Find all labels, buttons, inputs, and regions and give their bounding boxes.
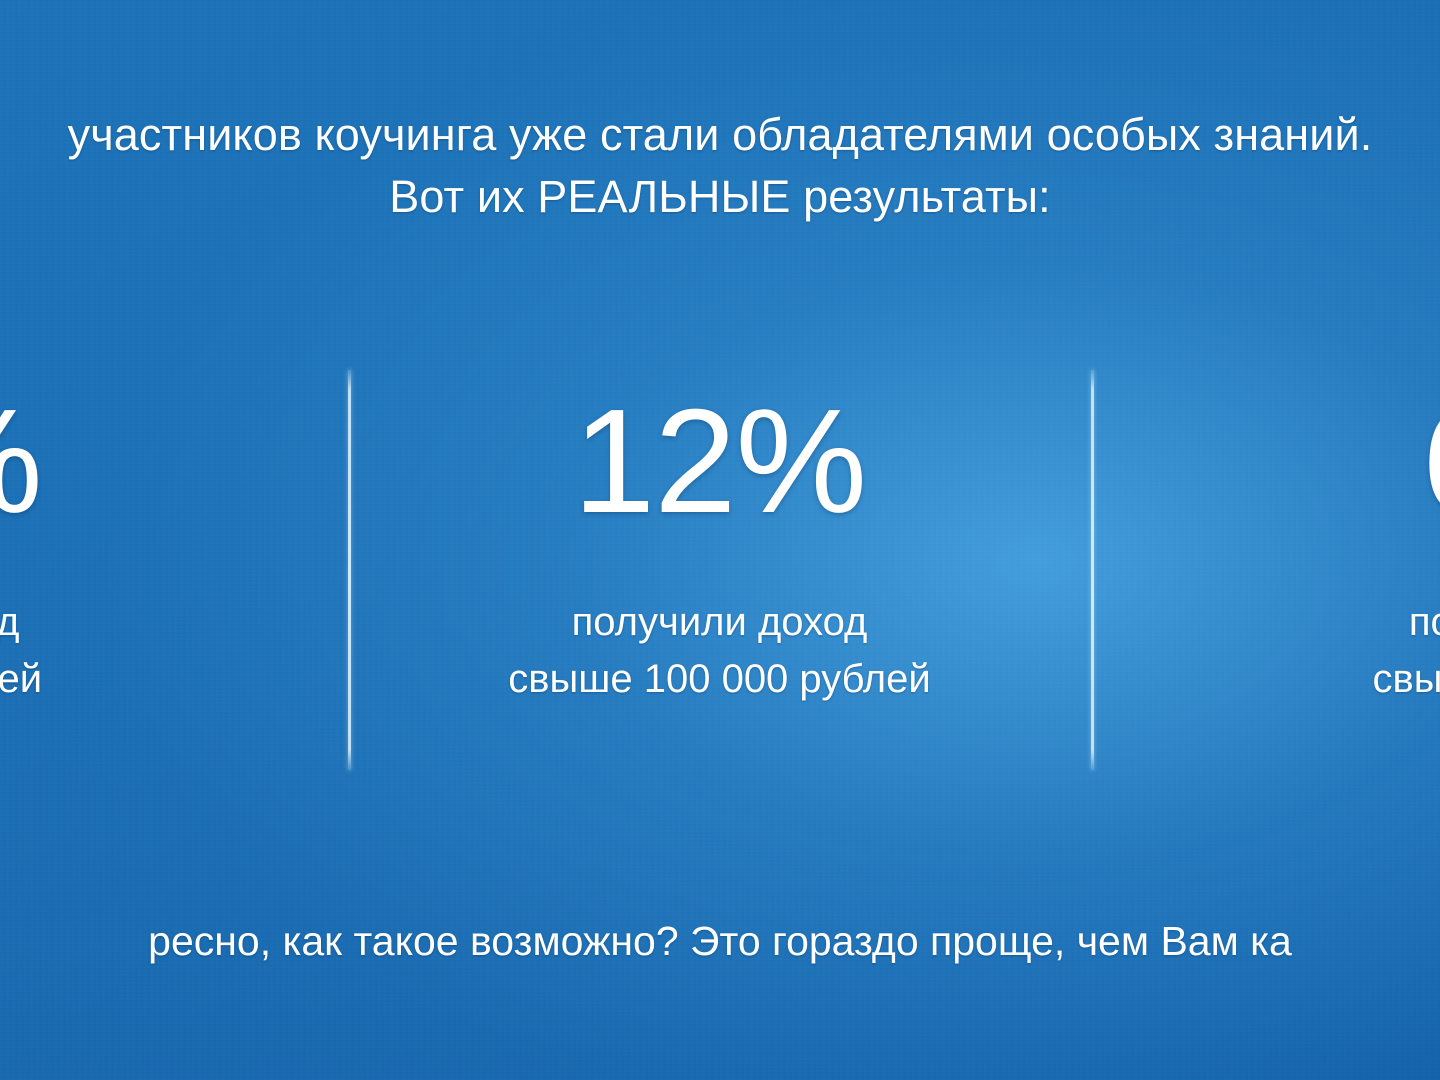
statistics-row: % оход рублей 12% получили доход свыше 1… bbox=[0, 370, 1440, 770]
headline-line-1: участников коучинга уже стали обладателя… bbox=[0, 104, 1440, 166]
stat-caption-middle-line-2: свыше 100 000 рублей bbox=[508, 651, 930, 708]
stat-value-right: 6 bbox=[1422, 388, 1440, 536]
slide-headline: участников коучинга уже стали обладателя… bbox=[0, 104, 1440, 228]
stat-block-left: % оход рублей bbox=[0, 370, 348, 770]
stat-caption-right: получ свыше 40 bbox=[1373, 594, 1440, 708]
stat-caption-right-line-2: свыше 40 bbox=[1373, 651, 1440, 708]
stat-caption-left-line-1: оход bbox=[0, 594, 42, 651]
stat-block-right: 6 получ свыше 40 bbox=[1091, 370, 1440, 770]
stat-caption-left: оход рублей bbox=[0, 594, 42, 708]
stat-value-left: % bbox=[0, 388, 42, 536]
slide-footer-text: ресно, как такое возможно? Это гораздо п… bbox=[0, 913, 1440, 969]
stat-caption-left-line-2: рублей bbox=[0, 651, 42, 708]
stat-caption-middle-line-1: получили доход bbox=[508, 594, 930, 651]
headline-line-2: Вот их РЕАЛЬНЫЕ результаты: bbox=[0, 166, 1440, 228]
stat-caption-middle: получили доход свыше 100 000 рублей bbox=[508, 594, 930, 708]
stat-value-middle: 12% bbox=[573, 388, 866, 536]
stat-block-middle: 12% получили доход свыше 100 000 рублей bbox=[348, 370, 1091, 770]
slide-canvas: участников коучинга уже стали обладателя… bbox=[0, 0, 1440, 1080]
stat-caption-right-line-1: получ bbox=[1373, 594, 1440, 651]
